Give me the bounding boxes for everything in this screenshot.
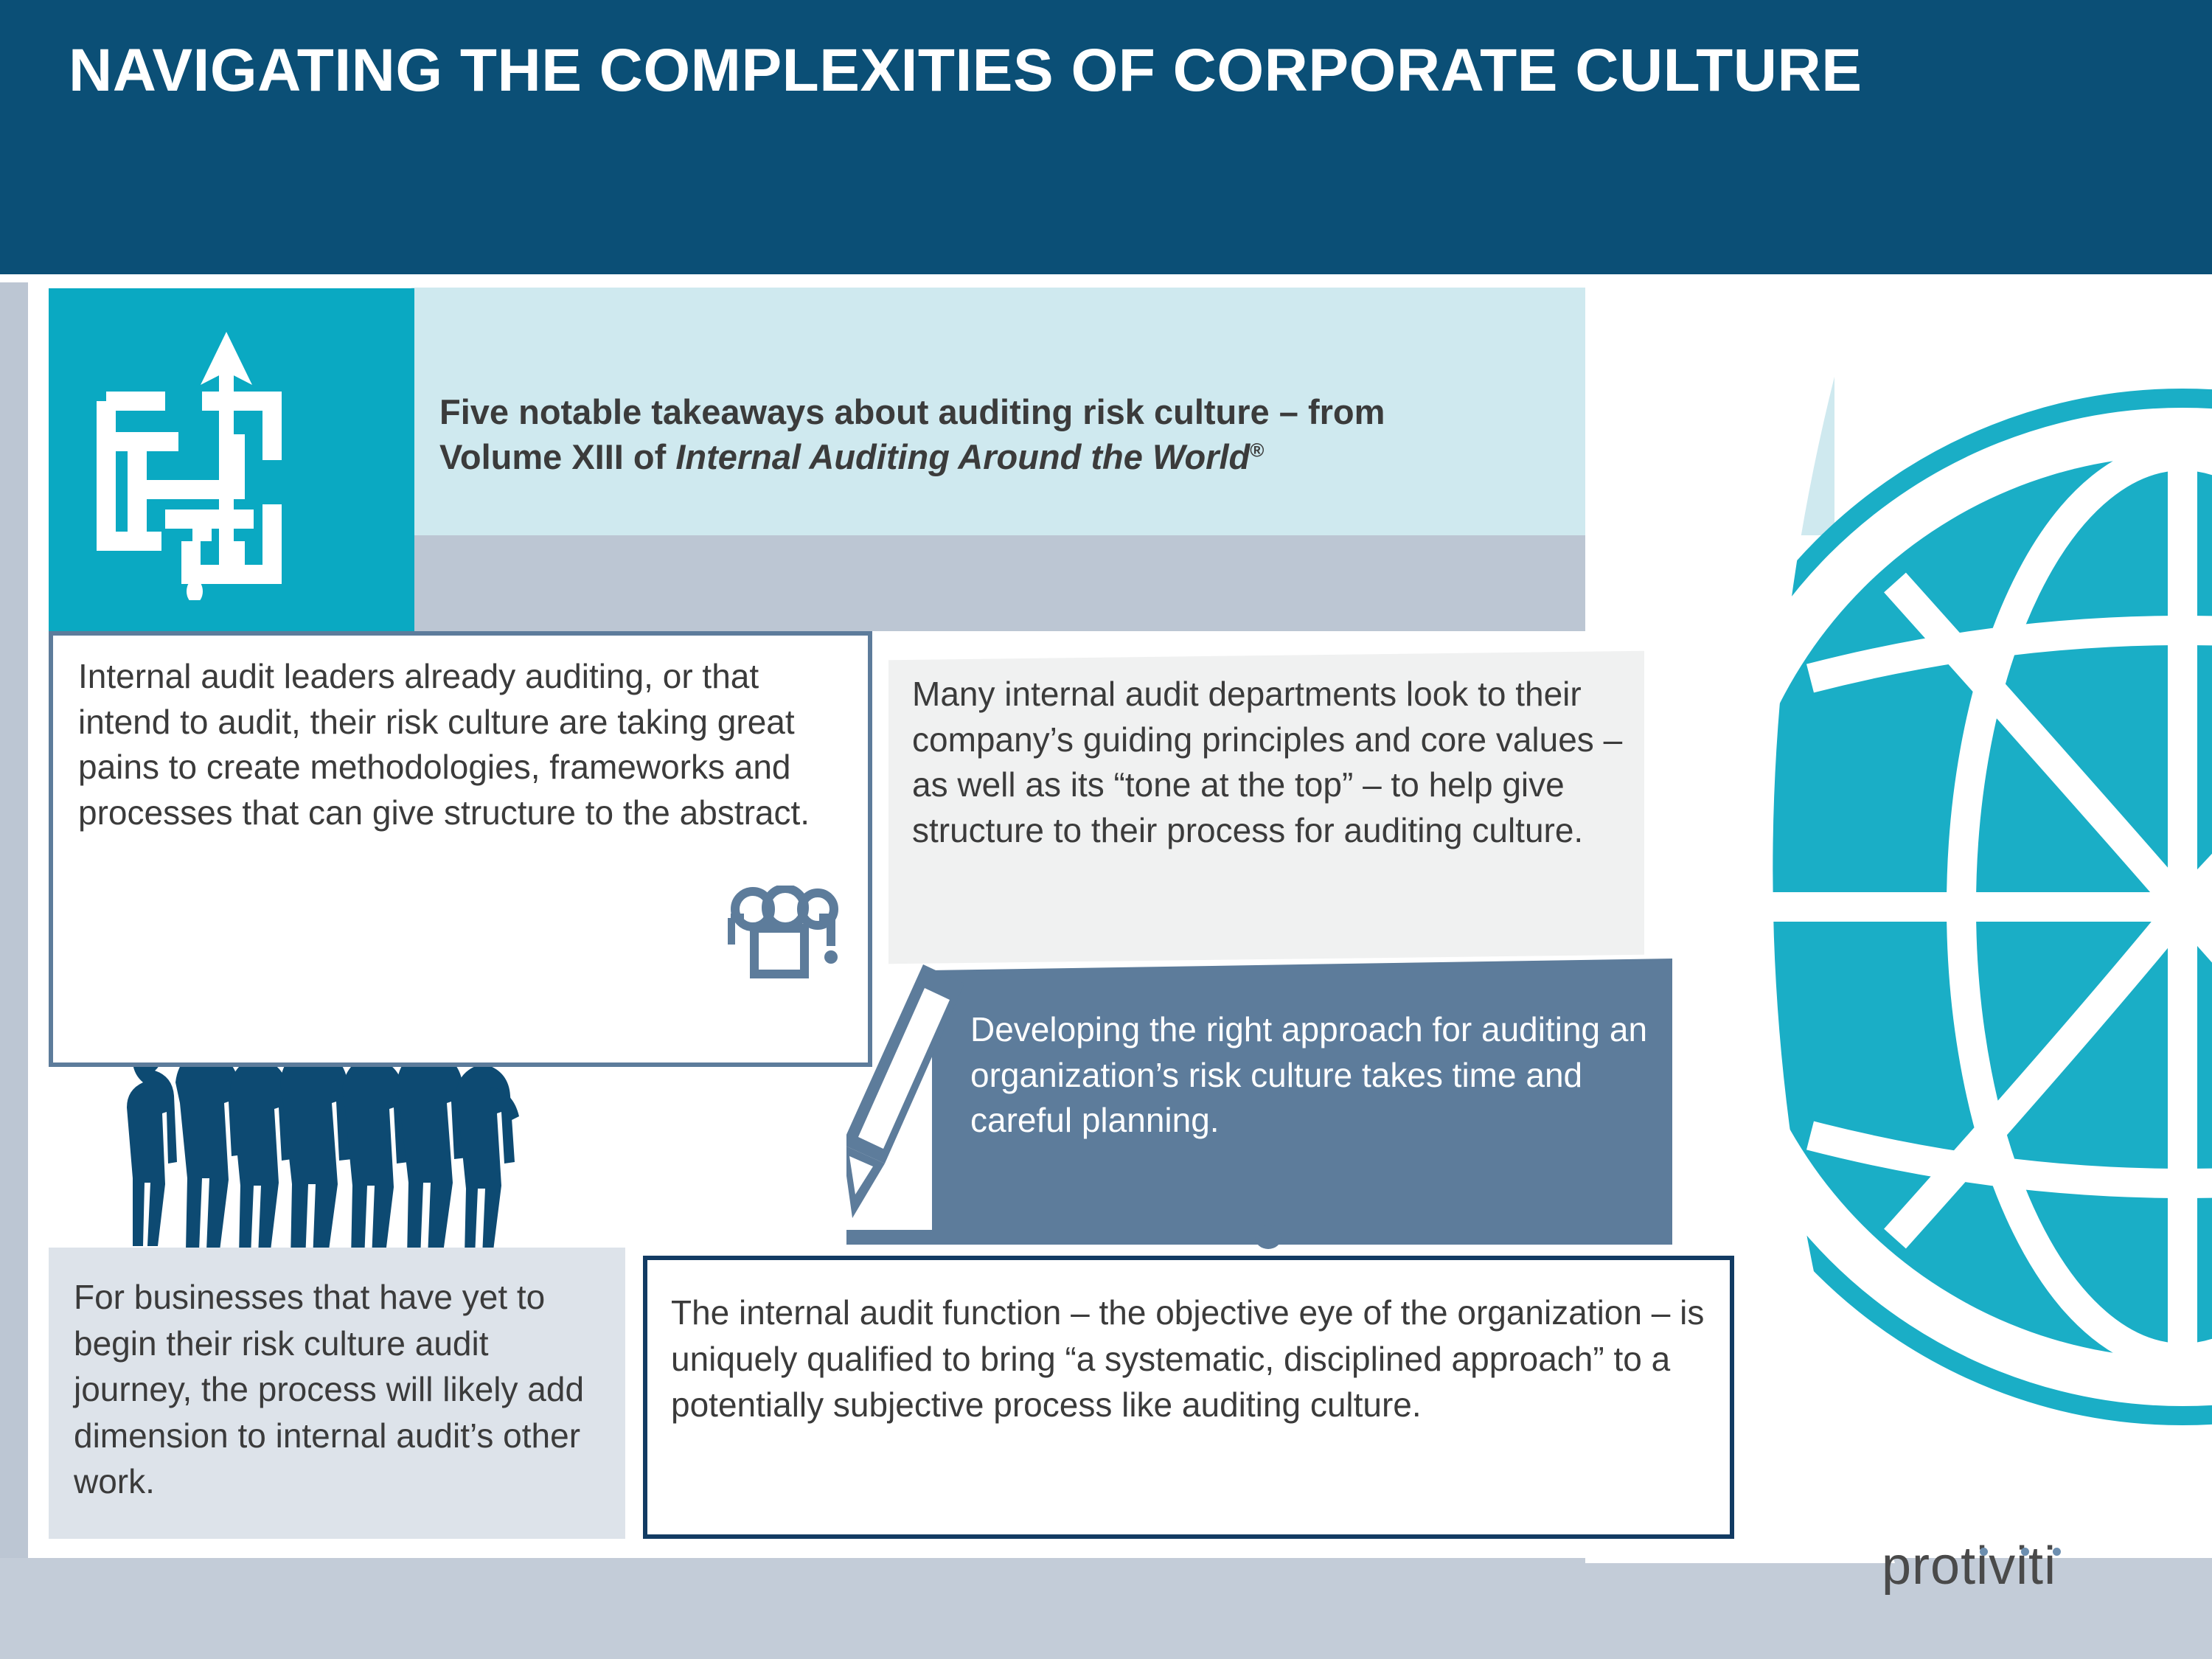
frame-bottom-bar: [0, 1558, 2212, 1659]
maze-arrow-icon: [49, 288, 414, 632]
frame-left-bar: [0, 282, 28, 1558]
header-band: NAVIGATING THE COMPLEXITIES OF CORPORATE…: [0, 0, 2212, 274]
registered-mark: ®: [1250, 439, 1264, 461]
takeaway-card-3-text: Developing the right approach for auditi…: [970, 1007, 1656, 1144]
subtitle: Five notable takeaways about auditing ri…: [439, 389, 1752, 479]
protiviti-logo: protiviti: [1882, 1540, 2056, 1593]
takeaway-card-1: Internal audit leaders already auditing,…: [49, 631, 872, 1067]
logo-dot-2: [2021, 1548, 2029, 1556]
takeaway-card-4: The internal audit function – the object…: [643, 1256, 1734, 1539]
protiviti-wordmark: protiviti: [1882, 1537, 2056, 1596]
subtitle-publication-title: Internal Auditing Around the World: [675, 437, 1250, 476]
subtitle-line1: Five notable takeaways about auditing ri…: [439, 392, 1385, 431]
page-title: NAVIGATING THE COMPLEXITIES OF CORPORATE…: [69, 41, 1956, 101]
takeaway-card-4-text: The internal audit function – the object…: [671, 1290, 1718, 1428]
takeaway-card-2: Many internal audit departments look to …: [888, 651, 1644, 964]
three-people-podium-icon: [728, 886, 846, 1000]
takeaway-card-3: Developing the right approach for auditi…: [846, 959, 1672, 1268]
takeaway-card-5-text: For businesses that have yet to begin th…: [74, 1274, 612, 1505]
takeaway-card-5: For businesses that have yet to begin th…: [49, 1248, 625, 1539]
infographic-slide: Five notable takeaways about auditing ri…: [0, 0, 2212, 1659]
takeaway-card-2-text: Many internal audit departments look to …: [912, 672, 1635, 854]
logo-dot-1: [1980, 1548, 1988, 1556]
logo-dot-3: [2053, 1548, 2061, 1556]
takeaway-card-1-text: Internal audit leaders already auditing,…: [78, 654, 845, 836]
gray-band: [411, 535, 1761, 631]
subtitle-line2-prefix: Volume XIII of: [439, 437, 675, 476]
